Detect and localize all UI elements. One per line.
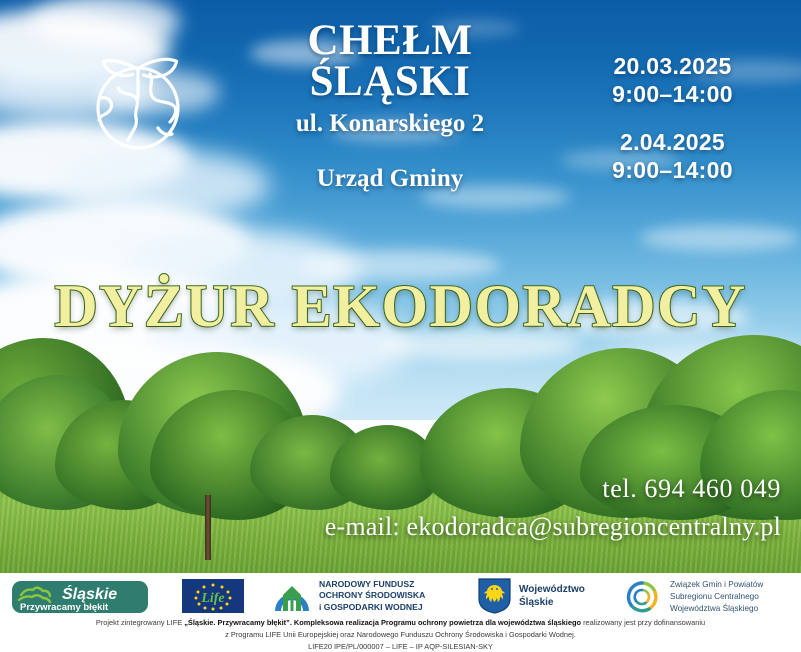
wojewodztwo-slaskie-logo: Województwo Śląskie xyxy=(478,578,585,614)
zwiazek-line-3: Województwa Śląskiego xyxy=(670,603,763,615)
svg-text:Śląskie: Śląskie xyxy=(62,584,117,603)
fine-print-line-1: Projekt zintegrowany LIFE „Śląskie. Przy… xyxy=(0,617,801,629)
background-photo: CHEŁM ŚLĄSKI ul. Konarskiego 2 Urząd Gmi… xyxy=(0,0,801,573)
eu-life-logo-graphic: Life xyxy=(182,579,244,613)
zwiazek-gmin-label: Związek Gmin i Powiatów Subregionu Centr… xyxy=(670,579,763,615)
zwiazek-line-1: Związek Gmin i Powiatów xyxy=(670,579,763,591)
footer: Śląskie Przywracamy błękit Li xyxy=(0,573,801,652)
fine-print-line-2: z Programu LIFE Unii Europejskiej oraz N… xyxy=(0,629,801,641)
hours-2: 9:00–14:00 xyxy=(560,156,785,184)
office-name: Urząd Gminy xyxy=(235,165,545,193)
svg-text:Life: Life xyxy=(200,591,224,606)
dates-block: 20.03.2025 9:00–14:00 2.04.2025 9:00–14:… xyxy=(560,52,785,184)
fine-print-line-3: LIFE20 IPE/PL/000007 – LIFE – IP AQP-SIL… xyxy=(0,641,801,652)
slaskie-logo-graphic: Śląskie Przywracamy błękit xyxy=(12,579,148,615)
hours-1: 9:00–14:00 xyxy=(560,80,785,108)
date-1: 20.03.2025 xyxy=(560,52,785,80)
slaskie-przywracamy-blekit-logo: Śląskie Przywracamy błękit xyxy=(12,579,148,615)
tree-trunk xyxy=(205,495,211,560)
poster: CHEŁM ŚLĄSKI ul. Konarskiego 2 Urząd Gmi… xyxy=(0,0,801,652)
city-name-line1: CHEŁM xyxy=(235,20,545,61)
svg-text:Przywracamy błękit: Przywracamy błękit xyxy=(20,602,109,613)
fine-print: Projekt zintegrowany LIFE „Śląskie. Przy… xyxy=(0,617,801,652)
wojewodztwo-line-1: Województwo xyxy=(519,583,585,597)
header-text: CHEŁM ŚLĄSKI ul. Konarskiego 2 Urząd Gmi… xyxy=(235,20,545,193)
silesian-coat-of-arms-icon xyxy=(478,578,511,614)
main-headline: DYŻUR EKODORADCY xyxy=(0,272,801,341)
nfosigw-line-2: OCHRONY ŚRODOWISKA xyxy=(319,590,425,601)
email-address: e-mail: ekodoradca@subregioncentralny.pl xyxy=(325,512,781,542)
nfosigw-label: NARODOWY FUNDUSZ OCHRONY ŚRODOWISKA i GO… xyxy=(319,579,425,613)
fine-print-line-1-b: „Śląskie. Przywracamy błękit”. Komplekso… xyxy=(184,618,581,627)
city-name-line2: ŚLĄSKI xyxy=(235,61,545,102)
zwiazek-line-2: Subregionu Centralnego xyxy=(670,591,763,603)
wojewodztwo-line-2: Śląskie xyxy=(519,596,585,610)
date-2: 2.04.2025 xyxy=(560,128,785,156)
fine-print-line-1-a: Projekt zintegrowany LIFE xyxy=(96,618,184,627)
nfosigw-logo-graphic xyxy=(272,577,312,615)
phone-number: tel. 694 460 049 xyxy=(602,474,781,504)
globe-sprout-icon xyxy=(88,26,192,154)
zwiazek-gmin-i-powiatow-logo: Związek Gmin i Powiatów Subregionu Centr… xyxy=(622,579,763,615)
fine-print-line-1-c: realizowany jest przy dofinansowaniu xyxy=(581,618,705,627)
street-address: ul. Konarskiego 2 xyxy=(235,108,545,139)
eu-life-logo: Life xyxy=(182,579,244,613)
zwiazek-gmin-logo-graphic xyxy=(622,579,662,615)
logo-row: Śląskie Przywracamy błękit Li xyxy=(0,575,801,617)
wojewodztwo-slaskie-label: Województwo Śląskie xyxy=(519,583,585,610)
nfosigw-logo: NARODOWY FUNDUSZ OCHRONY ŚRODOWISKA i GO… xyxy=(272,577,425,615)
nfosigw-line-1: NARODOWY FUNDUSZ xyxy=(319,579,425,590)
nfosigw-line-3: i GOSPODARKI WODNEJ xyxy=(319,602,425,613)
